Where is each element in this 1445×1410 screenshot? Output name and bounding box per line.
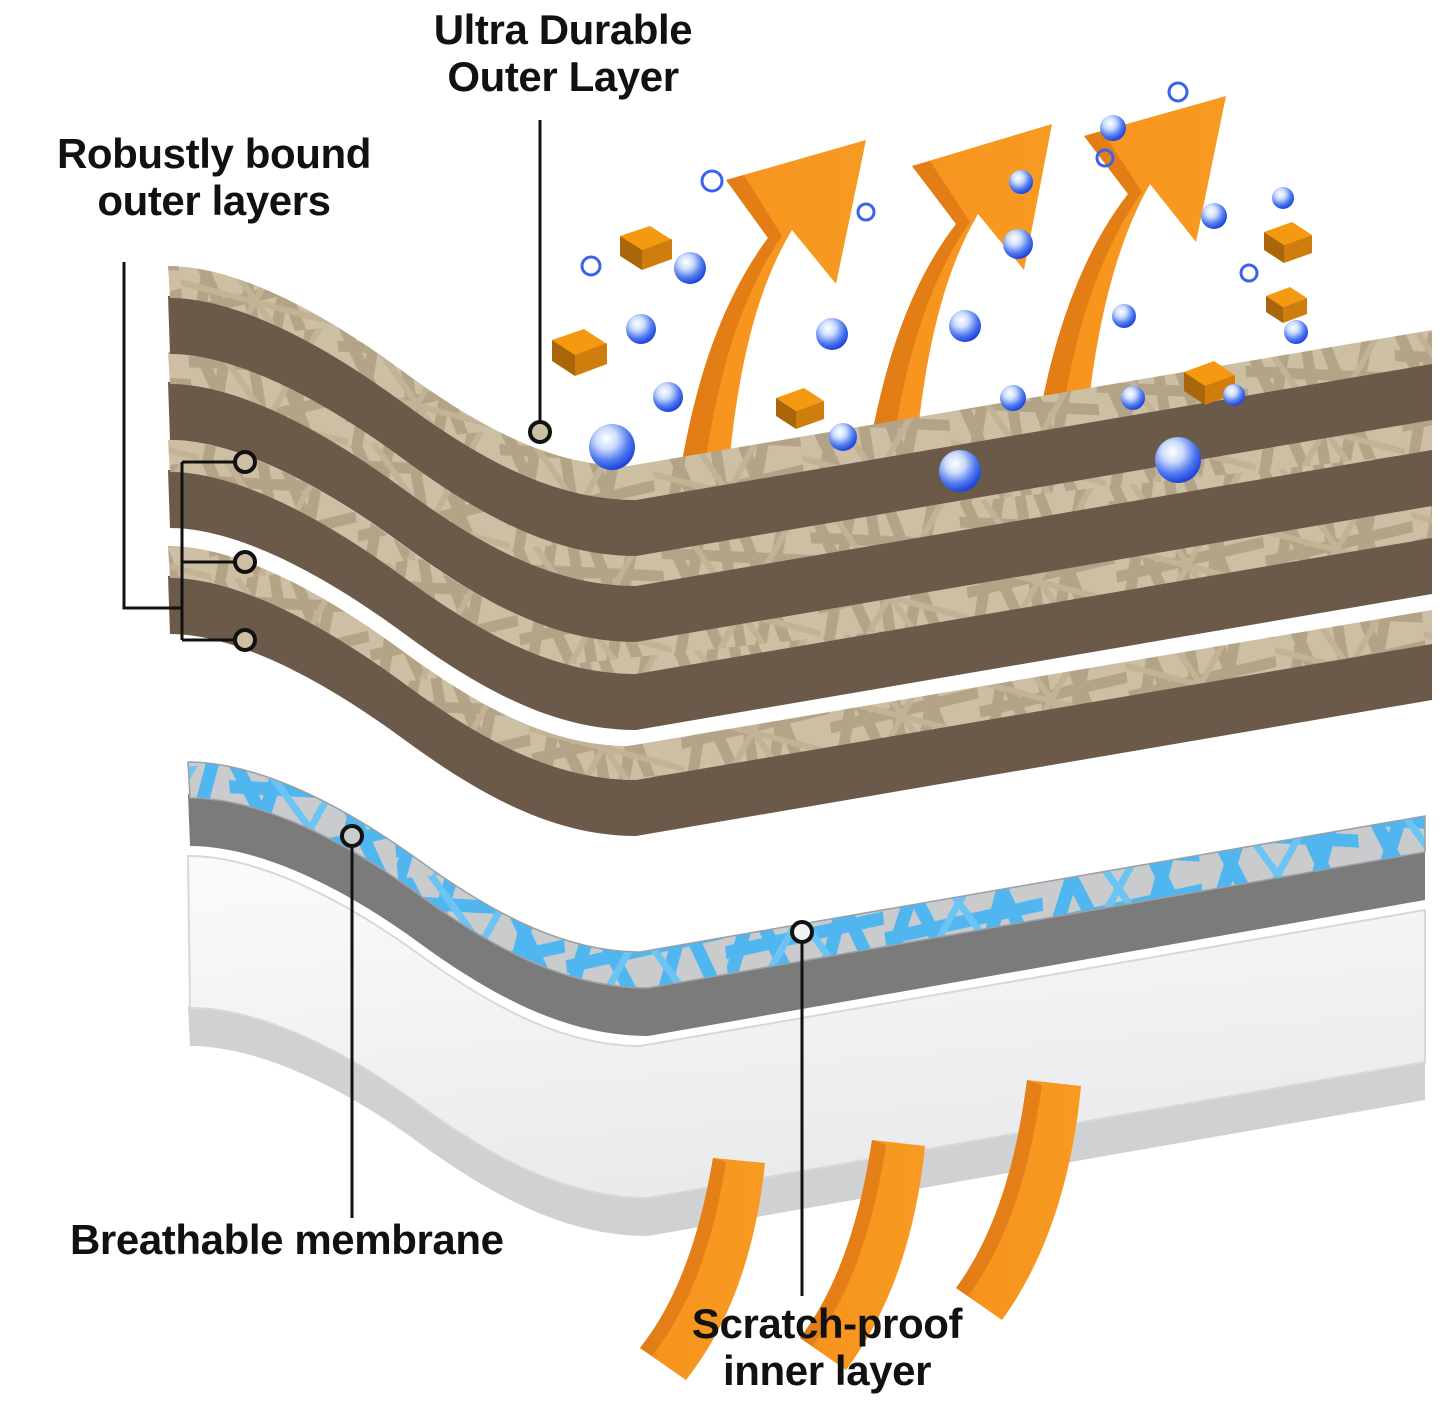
callout-dot-bond-2	[235, 552, 255, 572]
callout-dot-bond-3	[235, 630, 255, 650]
dirt-cube	[776, 388, 824, 429]
dirt-cube	[1266, 287, 1307, 323]
callout-dot-outer-layer	[530, 422, 550, 442]
dirt-cube	[620, 226, 672, 270]
callout-dot-membrane	[342, 826, 362, 846]
dirt-cube	[552, 329, 607, 376]
diagram-canvas: Ultra Durable Outer Layer Robustly bound…	[0, 0, 1445, 1410]
callout-dot-scratch	[792, 922, 812, 942]
dirt-cube	[1264, 222, 1312, 263]
label-ultra-durable-outer-layer: Ultra Durable Outer Layer	[398, 6, 728, 100]
label-breathable-membrane: Breathable membrane	[70, 1216, 670, 1263]
callout-dot-bond-1	[235, 452, 255, 472]
label-scratch-proof-inner-layer: Scratch-proof inner layer	[612, 1300, 1042, 1394]
label-robustly-bound-outer-layers: Robustly bound outer layers	[4, 130, 424, 224]
